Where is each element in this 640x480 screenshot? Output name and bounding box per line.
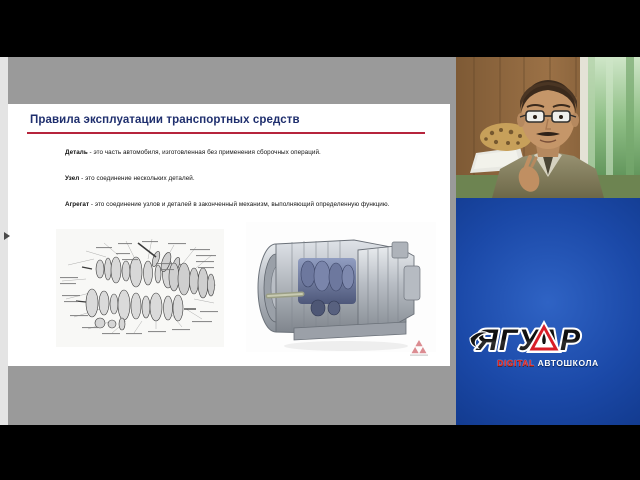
brand-wordmark: ЯГУАР ЯГУАР (456, 318, 640, 360)
term-agregat: Агрегат (65, 201, 89, 208)
definition-uzel-text: - это соединение нескольких деталей. (79, 175, 194, 182)
player-screen: Правила эксплуатации транспортных средст… (0, 0, 640, 480)
brand-subtitle: DIGITAL АВТОШКОЛА (456, 358, 640, 368)
slide-prev-arrow-icon[interactable] (4, 232, 10, 240)
brand-subtitle-digital: DIGITAL (497, 358, 534, 368)
definition-detal-text: - это часть автомобиля, изготовленная бе… (88, 149, 321, 156)
brand-panel: ЯГУАР ЯГУАР DIGITAL АВТОШКОЛА (456, 198, 640, 425)
letterbox-top (0, 0, 640, 57)
definition-agregat: Агрегат - это соединение узлов и деталей… (65, 200, 447, 210)
truck-transmission-photo (246, 222, 436, 352)
definition-detal: Деталь - это часть автомобиля, изготовле… (65, 148, 445, 158)
brand-logo: ЯГУАР ЯГУАР (456, 318, 640, 378)
term-uzel: Узел (65, 175, 79, 182)
term-detal: Деталь (65, 149, 88, 156)
title-underline (27, 132, 425, 134)
letterbox-bottom (0, 425, 640, 480)
definition-uzel: Узел - это соединение нескольких деталей… (65, 174, 445, 184)
gearbox-exploded-diagram (56, 229, 224, 347)
brand-subtitle-avtoshkola: АВТОШКОЛА (538, 358, 599, 368)
definition-agregat-text: - это соединение узлов и деталей в закон… (89, 201, 389, 208)
instructor-webcam-video[interactable] (456, 57, 640, 198)
slide-canvas: Правила эксплуатации транспортных средст… (8, 104, 450, 366)
mitsubishi-logo-icon (406, 338, 432, 358)
slide-title: Правила эксплуатации транспортных средст… (30, 114, 300, 126)
stage-left-edge (0, 57, 8, 425)
